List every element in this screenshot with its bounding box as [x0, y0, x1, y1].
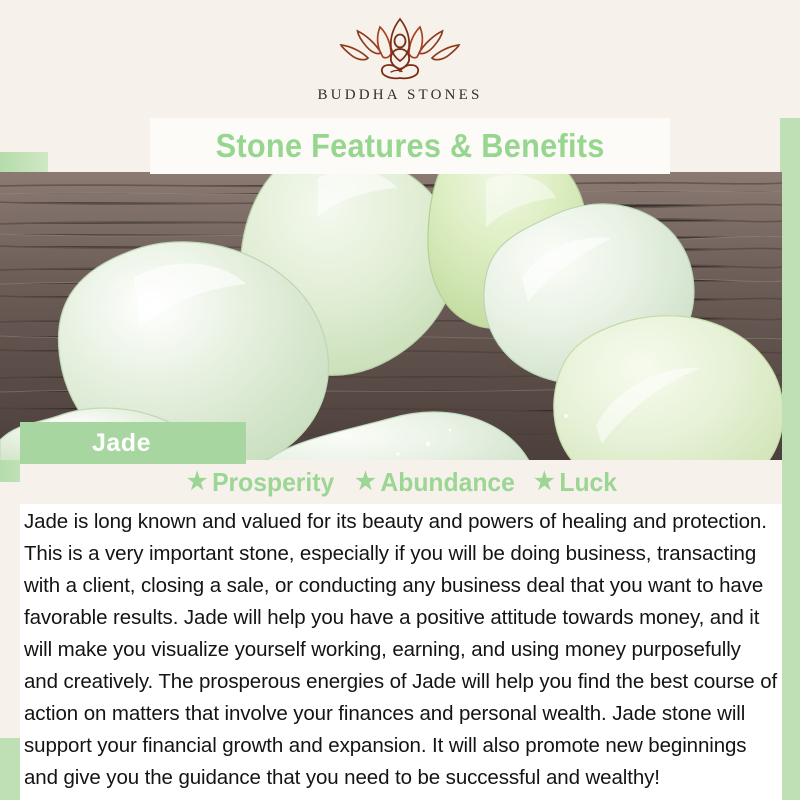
page-title: Stone Features & Benefits	[215, 127, 604, 165]
stone-description: Jade is long known and valued for its be…	[20, 504, 782, 800]
stone-name-label: Jade	[20, 422, 246, 464]
title-band: Stone Features & Benefits	[150, 118, 670, 174]
stone-info-poster: BUDDHA STONES Stone Features & Benefits	[0, 0, 800, 800]
star-icon: ★	[355, 470, 375, 494]
stone-photo	[0, 172, 782, 460]
benefit-item: ★ Luck	[534, 467, 617, 498]
benefit-label: Abundance	[380, 467, 514, 498]
benefit-label: Prosperity	[212, 467, 334, 498]
benefit-item: ★ Abundance	[355, 467, 515, 498]
stone-content: ★ Prosperity ★ Abundance ★ Luck Jade is …	[20, 460, 782, 800]
stone-name-text: Jade	[92, 429, 151, 458]
star-icon: ★	[187, 470, 207, 494]
benefit-label: Luck	[559, 467, 617, 498]
brand-logo: BUDDHA STONES	[317, 15, 482, 104]
star-icon: ★	[534, 470, 554, 494]
benefit-item: ★ Prosperity	[187, 467, 334, 498]
stone-photo-illustration	[0, 172, 782, 460]
brand-name: BUDDHA STONES	[317, 87, 482, 104]
frame-accent-right	[780, 0, 800, 800]
poster-header: BUDDHA STONES	[0, 0, 800, 118]
lotus-meditation-icon	[334, 15, 466, 81]
benefits-row: ★ Prosperity ★ Abundance ★ Luck	[20, 460, 782, 504]
